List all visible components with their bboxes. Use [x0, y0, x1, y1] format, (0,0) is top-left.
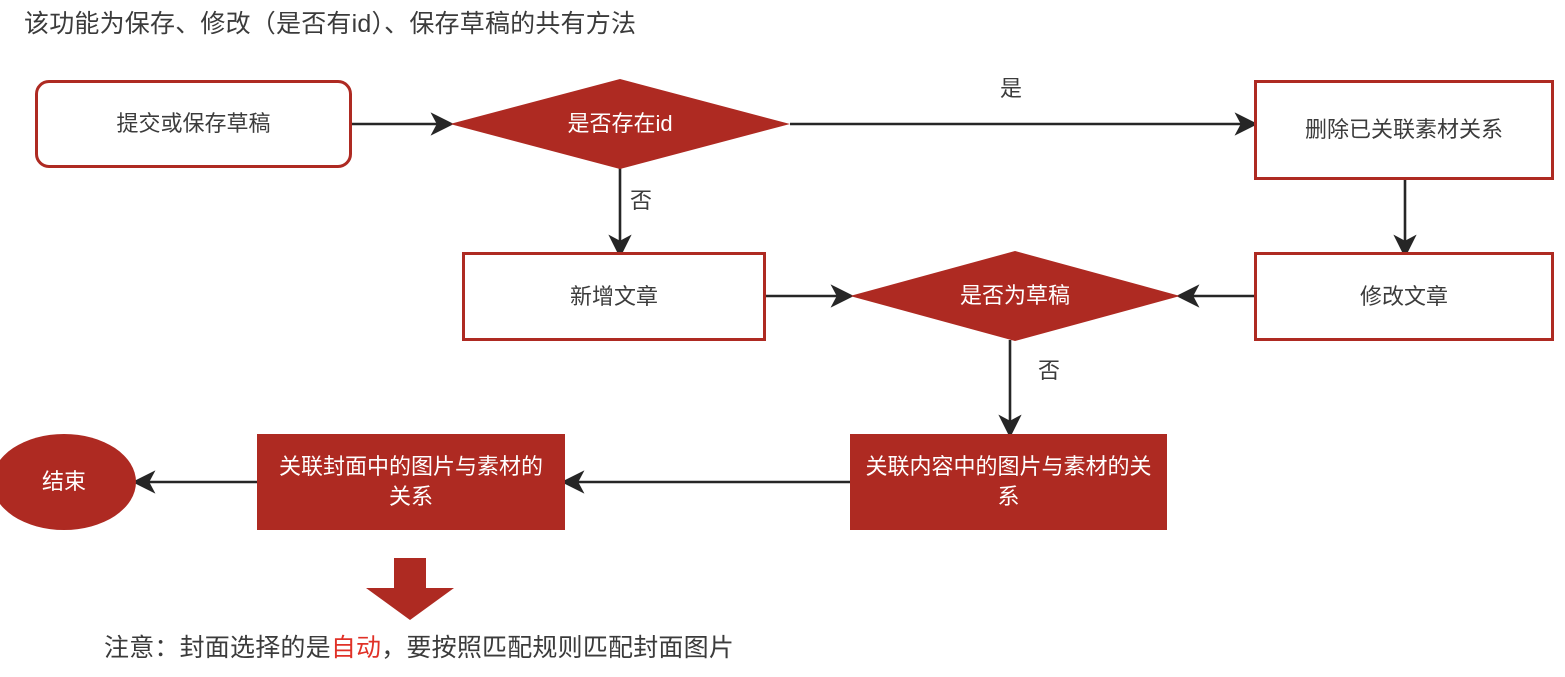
node-delete-relation-label: 删除已关联素材关系: [1305, 115, 1503, 145]
node-start-label: 提交或保存草稿: [116, 109, 270, 139]
edge-label-has-id-no: 否: [630, 188, 652, 214]
node-is-draft-decision[interactable]: 是否为草稿: [850, 251, 1180, 341]
node-start[interactable]: 提交或保存草稿: [35, 80, 352, 168]
edge-label-is-draft-no: 否: [1038, 358, 1060, 384]
node-link-cover-images[interactable]: 关联封面中的图片与素材的关系: [257, 434, 565, 530]
node-delete-relation[interactable]: 删除已关联素材关系: [1254, 80, 1554, 180]
node-is-draft-label: 是否为草稿: [850, 251, 1180, 341]
page-title: 该功能为保存、修改（是否有id）、保存草稿的共有方法: [24, 6, 636, 42]
node-has-id-decision[interactable]: 是否存在id: [450, 79, 790, 169]
node-add-article[interactable]: 新增文章: [462, 252, 766, 341]
node-update-article-label: 修改文章: [1360, 282, 1448, 312]
note-line: 注意：封面选择的是自动，要按照匹配规则匹配封面图片: [104, 630, 734, 666]
node-link-cover-images-label: 关联封面中的图片与素材的关系: [271, 452, 551, 512]
node-add-article-label: 新增文章: [570, 282, 658, 312]
node-link-content-images[interactable]: 关联内容中的图片与素材的关系: [850, 434, 1167, 530]
node-end[interactable]: 结束: [0, 434, 136, 530]
down-arrow-icon: [366, 558, 454, 620]
node-has-id-label: 是否存在id: [450, 79, 790, 169]
note-suffix: ，要按照匹配规则匹配封面图片: [381, 634, 734, 662]
note-highlight: 自动: [331, 634, 381, 662]
edge-label-has-id-yes: 是: [1000, 76, 1022, 102]
flowchart-canvas: 该功能为保存、修改（是否有id）、保存草稿的共有方法 是 否 否: [0, 0, 1565, 677]
node-update-article[interactable]: 修改文章: [1254, 252, 1554, 341]
note-prefix: 注意：封面选择的是: [104, 634, 331, 662]
node-link-content-images-label: 关联内容中的图片与素材的关系: [864, 452, 1153, 512]
node-end-label: 结束: [42, 467, 86, 497]
